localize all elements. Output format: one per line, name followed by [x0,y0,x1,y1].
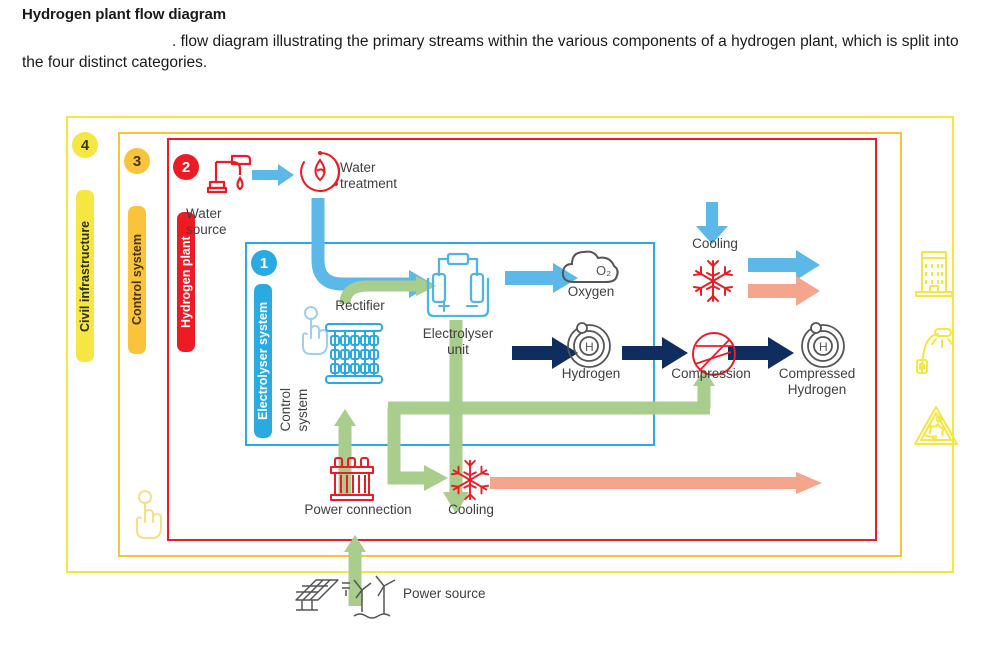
label-control-system: Controlsystem [278,388,296,432]
street-lamp-icon [914,320,958,380]
snowflake-icon [690,258,736,304]
arrow-cooling-supply-right [748,250,820,280]
label-water-source: Watersource [186,206,260,238]
arrow-cooling-return-right [748,276,820,306]
desc-lead: . [172,33,176,50]
faucet-icon [202,148,254,198]
oxygen-symbol: O₂ [596,263,611,278]
power-bus-network [334,320,715,606]
label-electrolyser-unit: Electrolyserunit [398,326,518,358]
label-compression: Compression [650,366,772,382]
line-cooling-return-bottom [490,472,822,494]
label-compressed-hydrogen: CompressedHydrogen [762,366,872,398]
label-rectifier: Rectifier [312,298,408,314]
arrow-water-source-to-treatment [252,164,294,186]
page-description: . flow diagram illustrating the primary … [22,32,962,73]
water-treatment-icon [298,150,342,196]
page-title: Hydrogen plant flow diagram [22,6,962,23]
transformer-icon [326,456,378,504]
hand-touch-icon [132,488,166,544]
oxygen-cloud-icon: O₂ [560,246,622,288]
snowflake-icon [448,458,492,502]
hydrogen-atom-icon: H [796,320,850,370]
desc-line-1: flow diagram illustrating the primary st… [181,33,727,50]
solar-wind-icon [292,574,402,622]
label-cooling-bottom: Cooling [428,502,514,518]
warning-triangle-icon [912,402,960,450]
compressed-hydrogen-symbol: H [819,340,828,354]
label-oxygen: Oxygen [546,284,636,300]
label-power-source: Power source [403,586,533,602]
label-power-connection: Power connection [278,502,438,518]
label-cooling-top: Cooling [660,236,770,252]
header: Hydrogen plant flow diagram . flow diagr… [22,6,962,73]
arrow-hydrogen-to-compression [622,337,688,369]
hydrogen-atom-icon: H [562,320,616,370]
hydrogen-symbol: H [585,340,594,354]
label-hydrogen: Hydrogen [542,366,640,382]
electrolyser-cell-icon [425,250,491,322]
label-water-treatment: Watertreatment [340,160,436,192]
hydrogen-plant-flow-diagram: 4 3 2 1 Civil infrastructure Control sys… [0,108,1000,646]
building-icon [912,244,956,300]
rectifier-icon [322,320,386,390]
